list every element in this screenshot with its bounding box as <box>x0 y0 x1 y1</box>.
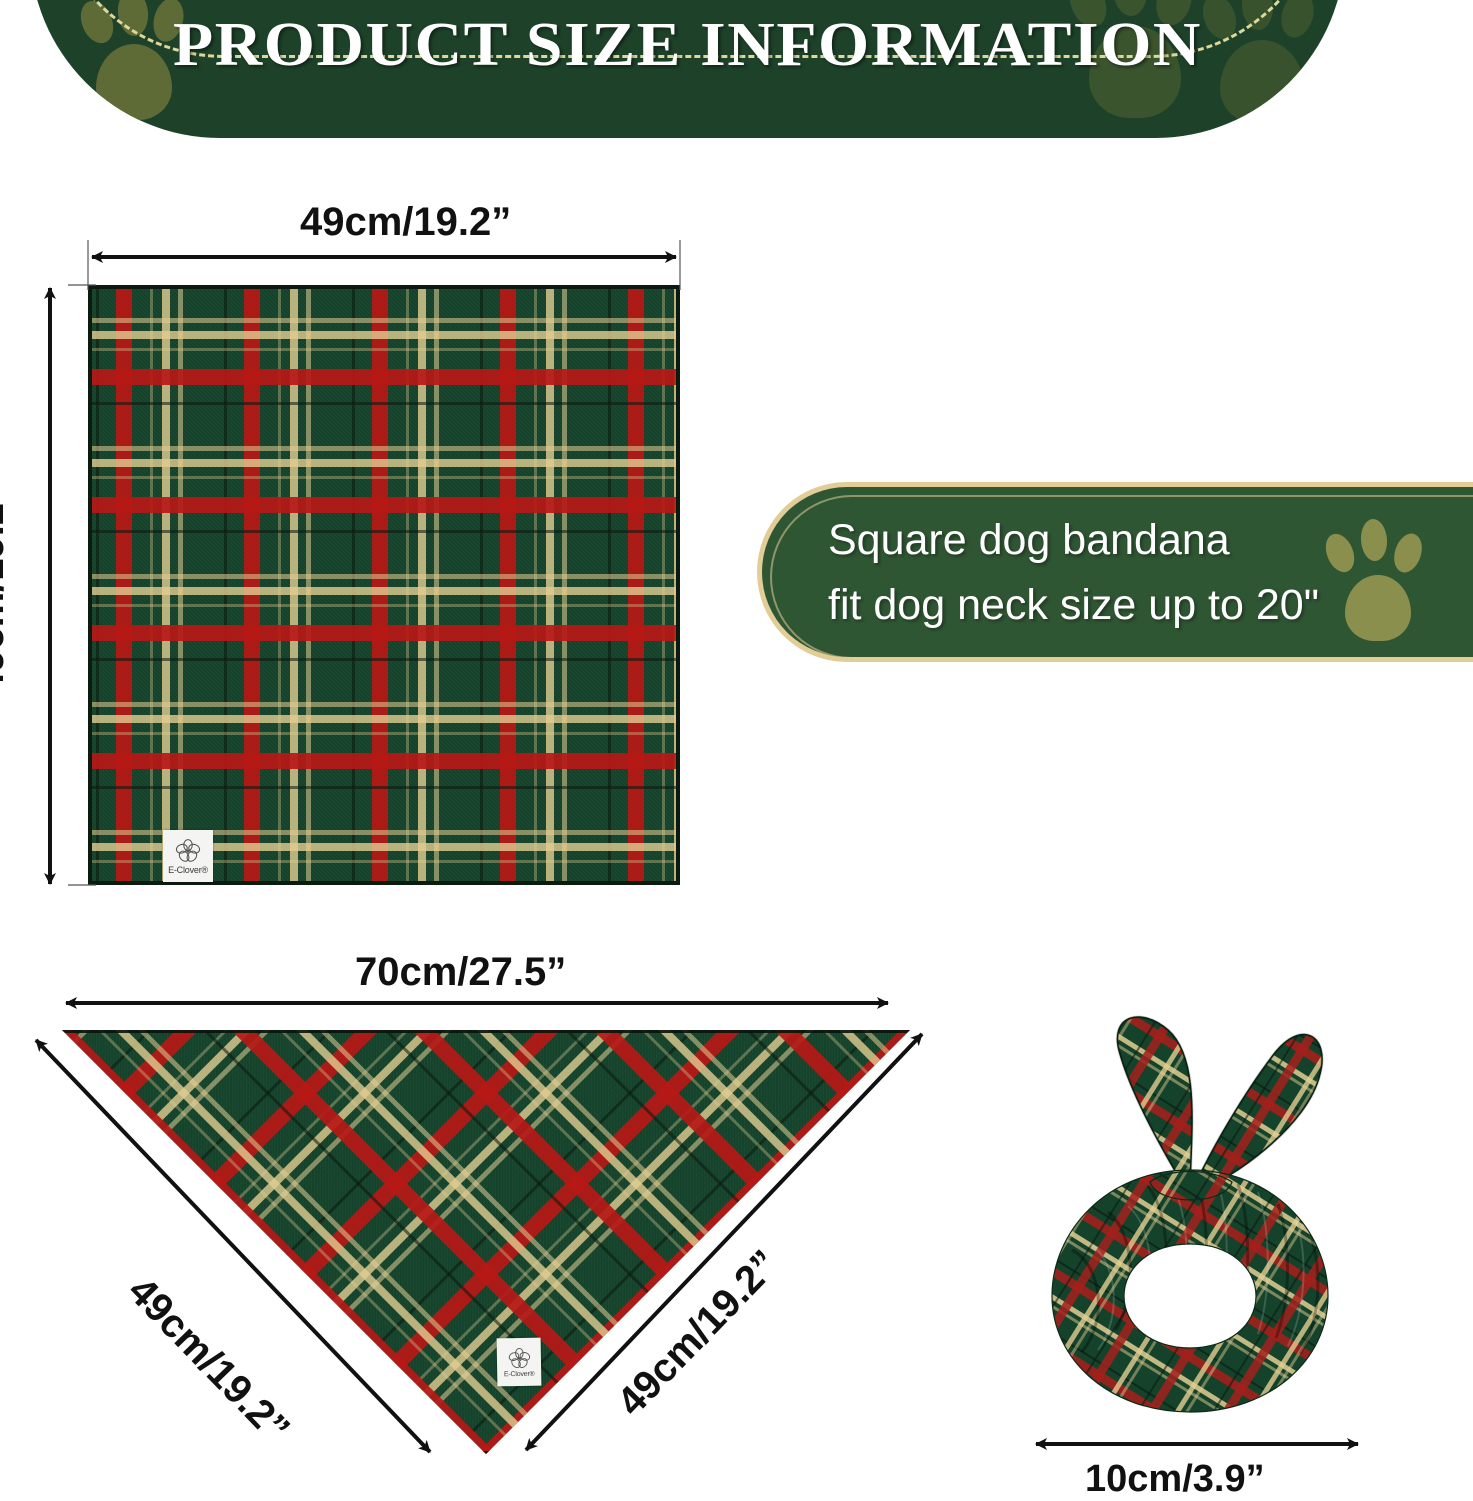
callout-text-line-1: Square dog bandana <box>828 516 1230 565</box>
paw-print-icon <box>1323 517 1443 647</box>
triangle-width-label: 70cm/27.5” <box>355 950 566 995</box>
square-dog-bandana-image <box>88 285 680 885</box>
brand-tag-label: E-Clover® <box>504 1370 535 1378</box>
brand-tag: E-Clover® <box>497 1338 542 1387</box>
scrunchie-width-label: 10cm/3.9” <box>1085 1458 1265 1501</box>
callout-text-line-2: fit dog neck size up to 20" <box>828 581 1319 630</box>
scrunchie-ring <box>1052 1170 1328 1412</box>
square-height-label: 49cm/19.2” <box>0 483 13 694</box>
clover-icon <box>175 838 201 864</box>
brand-tag-label: E-Clover® <box>168 865 208 875</box>
callout-box: Square dog bandana fit dog neck size up … <box>757 482 1473 662</box>
header-banner: PRODUCT SIZE INFORMATION <box>30 0 1345 138</box>
triangle-dog-bandana-image <box>62 1030 910 1454</box>
triangle-left-label: 49cm/19.2” <box>119 1269 298 1452</box>
brand-tag: E-Clover® <box>163 830 213 882</box>
square-width-label: 49cm/19.2” <box>300 200 511 245</box>
page-title: PRODUCT SIZE INFORMATION <box>30 10 1345 81</box>
clover-icon <box>507 1346 530 1369</box>
plaid-bow-scrunchie-image <box>1012 1000 1368 1420</box>
scrunchie-left-ear <box>1117 1017 1192 1196</box>
